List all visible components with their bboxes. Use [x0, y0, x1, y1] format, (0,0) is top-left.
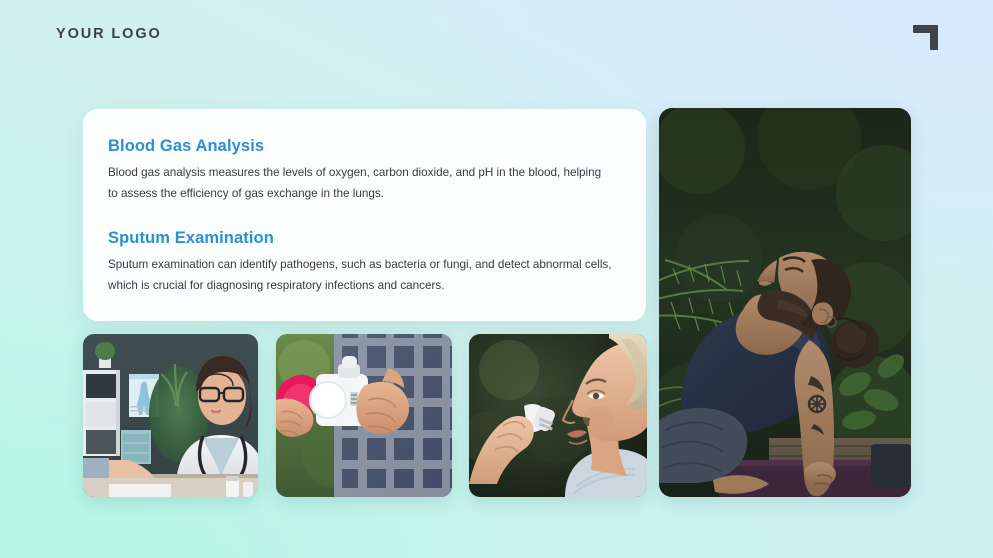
corner-bracket-icon: [913, 25, 938, 50]
woman-using-inhaler-photo: [469, 334, 647, 497]
inhaler-device-photo: [276, 334, 452, 497]
deep-breathing-yoga-photo: [659, 108, 911, 497]
section-sputum-examination: Sputum Examination Sputum examination ca…: [108, 229, 614, 296]
corner-bracket-horizontal: [913, 25, 938, 33]
section-body: Blood gas analysis measures the levels o…: [108, 163, 614, 204]
doctor-consultation-photo: [83, 334, 258, 497]
info-card: Blood Gas Analysis Blood gas analysis me…: [83, 109, 646, 321]
logo: YOUR LOGO: [56, 26, 162, 42]
section-body: Sputum examination can identify pathogen…: [108, 255, 614, 296]
section-blood-gas-analysis: Blood Gas Analysis Blood gas analysis me…: [108, 137, 614, 204]
corner-bracket-vertical: [930, 25, 938, 50]
section-title: Sputum Examination: [108, 229, 614, 248]
slide-canvas: YOUR LOGO Blood Gas Analysis Blood gas a…: [0, 0, 993, 558]
section-title: Blood Gas Analysis: [108, 137, 614, 156]
